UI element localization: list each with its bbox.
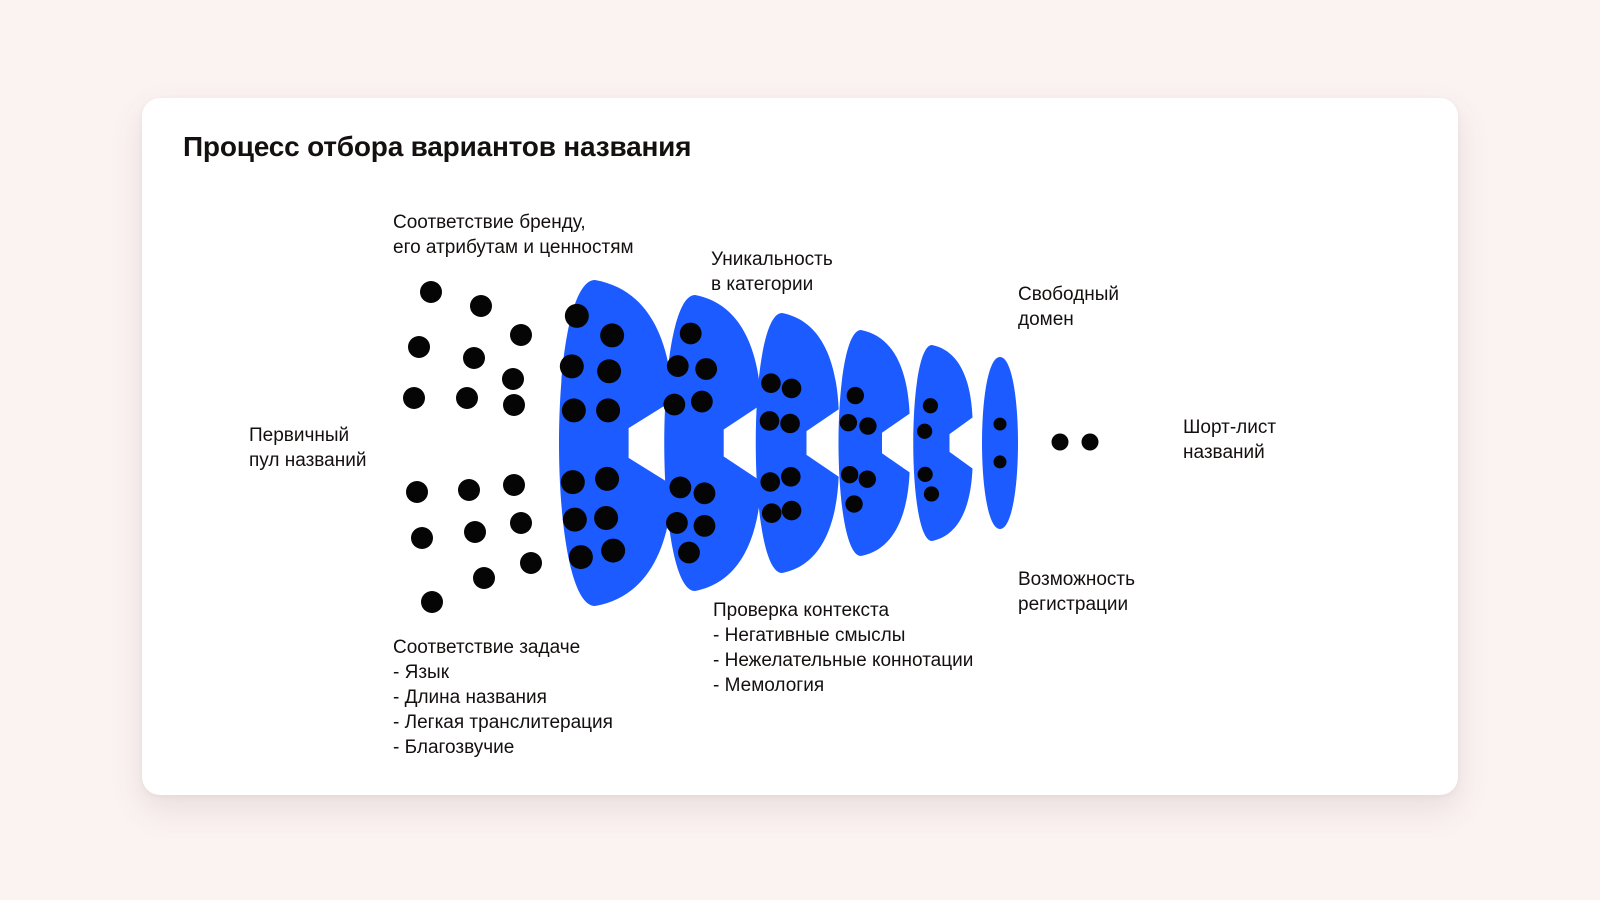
diagram-page: Процесс отбора вариантов названия Соотве… (0, 0, 1600, 900)
label-task-fit: Соответствие задаче - Язык - Длина назва… (393, 635, 613, 760)
label-free-domain: Свободный домен (1018, 282, 1119, 332)
label-uniqueness: Уникальность в категории (711, 247, 833, 297)
label-primary-pool: Первичный пул названий (249, 423, 366, 473)
label-brand-fit: Соответствие бренду, его атрибутам и цен… (393, 210, 634, 260)
page-title: Процесс отбора вариантов названия (183, 131, 691, 163)
label-registration: Возможность регистрации (1018, 567, 1135, 617)
label-context-check: Проверка контекста - Негативные смыслы -… (713, 598, 973, 698)
label-shortlist: Шорт-лист названий (1183, 415, 1276, 465)
